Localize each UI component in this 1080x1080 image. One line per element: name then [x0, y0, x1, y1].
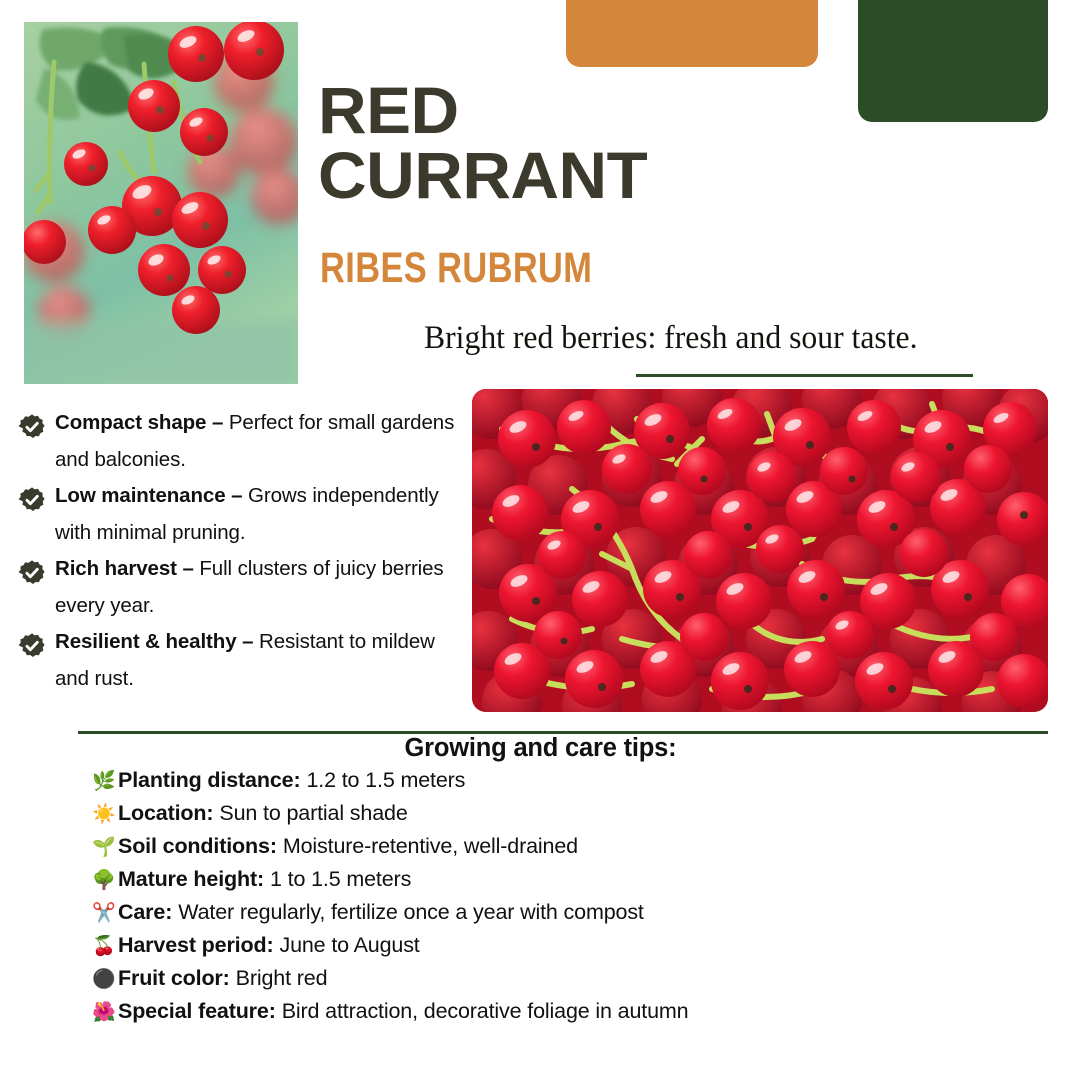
feature-dash: –: [226, 484, 249, 507]
tips-list: 🌿 Planting distance: 1.2 to 1.5 meters ☀…: [92, 768, 1072, 1032]
feature-label: Rich harvest: [55, 557, 177, 580]
title-line-1: RED: [318, 78, 1032, 143]
tip-label: Mature height:: [118, 867, 264, 892]
feature-dash: –: [206, 411, 229, 434]
tagline: Bright red berries: fresh and sour taste…: [424, 320, 981, 357]
sun-icon: ☀️: [92, 805, 118, 824]
check-badge-icon: [18, 486, 46, 514]
tip-label: Location:: [118, 801, 213, 826]
tip-label: Planting distance:: [118, 768, 300, 793]
scissors-icon: ✂️: [92, 904, 118, 923]
tip-value: June to August: [279, 933, 419, 958]
tip-label: Special feature:: [118, 999, 276, 1024]
feature-label: Low maintenance: [55, 484, 226, 507]
list-item: 🌿 Planting distance: 1.2 to 1.5 meters: [92, 768, 1072, 801]
tip-label: Soil conditions:: [118, 834, 277, 859]
cherries-icon: 🍒: [92, 937, 118, 956]
feature-label: Resilient & healthy: [55, 630, 237, 653]
hibiscus-flower-icon: 🌺: [92, 1003, 118, 1022]
list-item: ✂️ Care: Water regularly, fertilize once…: [92, 900, 1072, 933]
tips-heading: Growing and care tips:: [78, 734, 1003, 763]
tip-label: Fruit color:: [118, 966, 230, 991]
botanical-name: RIBES RUBRUM: [320, 244, 592, 293]
title-line-2: CURRANT: [318, 143, 1032, 208]
tree-icon: 🌳: [92, 871, 118, 890]
tip-value: Moisture-retentive, well-drained: [283, 834, 578, 859]
list-item: 🌱 Soil conditions: Moisture-retentive, w…: [92, 834, 1072, 867]
feature-label: Compact shape: [55, 411, 206, 434]
list-item: 🍒 Harvest period: June to August: [92, 933, 1072, 966]
list-item: ☀️ Location: Sun to partial shade: [92, 801, 1072, 834]
tip-value: Bright red: [236, 966, 328, 991]
list-item-text: Low maintenance – Grows independently wi…: [55, 478, 463, 551]
hero-currant-branch-image: [24, 22, 298, 384]
list-item-text: Compact shape – Perfect for small garden…: [55, 405, 463, 478]
berry-pile-image: [472, 389, 1048, 712]
decor-orange-block: [566, 0, 818, 67]
tip-label: Care:: [118, 900, 172, 925]
list-item: 🌺 Special feature: Bird attraction, deco…: [92, 999, 1072, 1032]
list-item-text: Resilient & healthy – Resistant to milde…: [55, 624, 463, 697]
dark-circle-icon: ⚫: [92, 970, 118, 989]
check-badge-icon: [18, 632, 46, 660]
herb-branch-icon: 🌿: [92, 772, 118, 791]
tagline-underline: [636, 374, 973, 377]
list-item: Compact shape – Perfect for small garden…: [18, 405, 463, 478]
tip-value: Sun to partial shade: [219, 801, 407, 826]
tip-value: 1.2 to 1.5 meters: [306, 768, 465, 793]
list-item: ⚫ Fruit color: Bright red: [92, 966, 1072, 999]
check-badge-icon: [18, 413, 46, 441]
list-item: Rich harvest – Full clusters of juicy be…: [18, 551, 463, 624]
check-badge-icon: [18, 559, 46, 587]
tip-value: Bird attraction, decorative foliage in a…: [282, 999, 689, 1024]
tip-label: Harvest period:: [118, 933, 273, 958]
feature-dash: –: [237, 630, 260, 653]
list-item: Low maintenance – Grows independently wi…: [18, 478, 463, 551]
list-item-text: Rich harvest – Full clusters of juicy be…: [55, 551, 463, 624]
seedling-icon: 🌱: [92, 838, 118, 857]
tip-value: 1 to 1.5 meters: [270, 867, 411, 892]
page-title: RED CURRANT: [318, 78, 1018, 209]
feature-list: Compact shape – Perfect for small garden…: [18, 405, 463, 697]
feature-dash: –: [177, 557, 200, 580]
list-item: Resilient & healthy – Resistant to milde…: [18, 624, 463, 697]
tip-value: Water regularly, fertilize once a year w…: [178, 900, 644, 925]
list-item: 🌳 Mature height: 1 to 1.5 meters: [92, 867, 1072, 900]
